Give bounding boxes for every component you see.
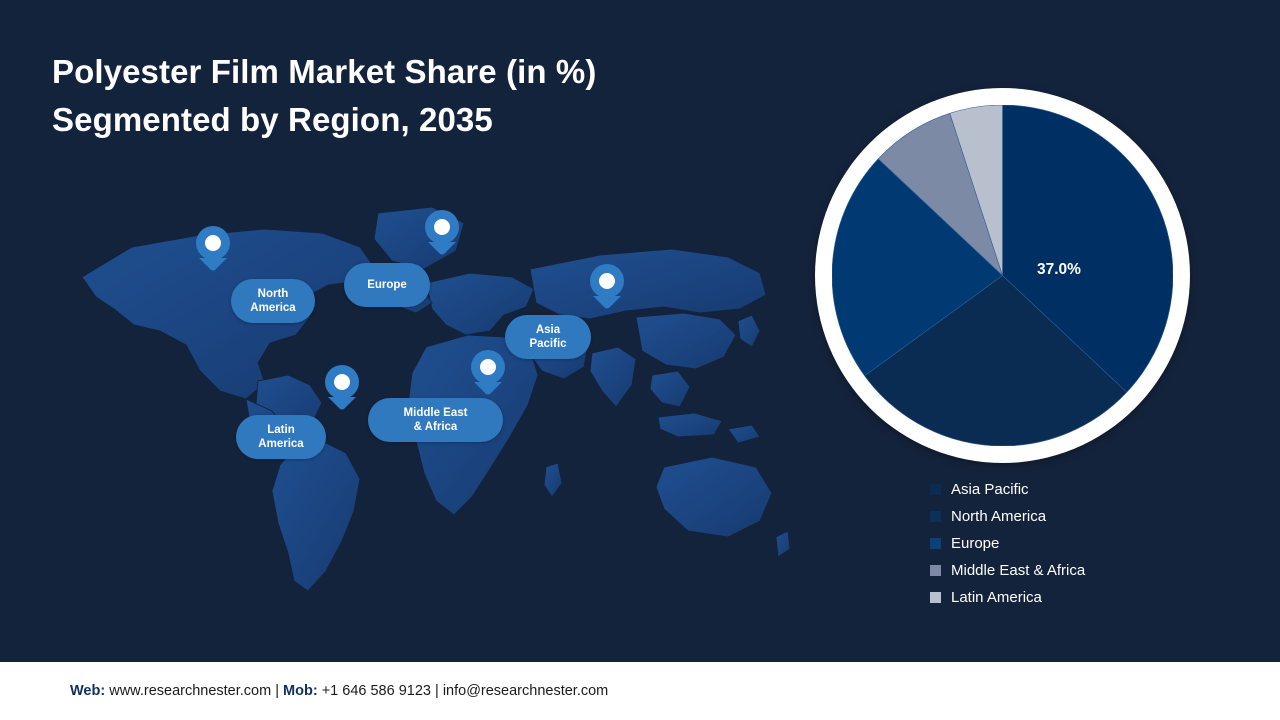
legend-item-latin-america[interactable]: Latin America: [930, 584, 1230, 611]
pie-chart-slices: [832, 105, 1173, 446]
title-line-1: Polyester Film Market Share (in %): [52, 48, 692, 96]
footer-separator: |: [275, 683, 279, 699]
page-title: Polyester Film Market Share (in %) Segme…: [52, 48, 692, 144]
footer-web-label: Web:: [70, 683, 105, 699]
map-label-north-america[interactable]: North America: [231, 279, 315, 323]
map-pin-head-icon: [590, 264, 624, 298]
legend-swatch-icon: [930, 511, 941, 522]
legend-label: Europe: [951, 535, 999, 553]
legend-item-middle-east-africa[interactable]: Middle East & Africa: [930, 557, 1230, 584]
map-pin-europe[interactable]: [425, 210, 459, 256]
map-pin-head-icon: [325, 365, 359, 399]
legend-label: Latin America: [951, 589, 1042, 607]
map-pin-latin-america[interactable]: [325, 365, 359, 411]
pie-slice-label-asia-pacific: 37.0%: [1037, 261, 1081, 279]
map-label-asia-pacific[interactable]: Asia Pacific: [505, 315, 591, 359]
title-line-2: Segmented by Region, 2035: [52, 96, 692, 144]
legend-label: North America: [951, 508, 1046, 526]
legend-swatch-icon: [930, 592, 941, 603]
legend-item-europe[interactable]: Europe: [930, 530, 1230, 557]
footer-mob-value: +1 646 586 9123: [322, 683, 431, 699]
slide-canvas: Polyester Film Market Share (in %) Segme…: [0, 0, 1280, 720]
legend-swatch-icon: [930, 565, 941, 576]
map-pin-middle-east-africa[interactable]: [471, 350, 505, 396]
legend-label: Asia Pacific: [951, 481, 1029, 499]
footer-mob-label: Mob:: [283, 683, 318, 699]
legend-swatch-icon: [930, 538, 941, 549]
map-label-europe[interactable]: Europe: [344, 263, 430, 307]
map-label-latin-america[interactable]: Latin America: [236, 415, 326, 459]
footer-email-value[interactable]: info@researchnester.com: [443, 683, 608, 699]
map-pin-head-icon: [196, 226, 230, 260]
map-pin-north-america[interactable]: [196, 226, 230, 272]
footer-bar: Web: www.researchnester.com | Mob: +1 64…: [0, 662, 1280, 720]
footer-web-value[interactable]: www.researchnester.com: [109, 683, 271, 699]
pie-chart: 37.0%: [815, 88, 1190, 463]
legend-item-asia-pacific[interactable]: Asia Pacific: [930, 476, 1230, 503]
map-pin-head-icon: [425, 210, 459, 244]
map-pin-head-icon: [471, 350, 505, 384]
legend-item-north-america[interactable]: North America: [930, 503, 1230, 530]
legend-label: Middle East & Africa: [951, 562, 1085, 580]
legend-swatch-icon: [930, 484, 941, 495]
map-pin-asia-pacific[interactable]: [590, 264, 624, 310]
chart-legend: Asia Pacific North America Europe Middle…: [930, 476, 1230, 611]
world-map: North America Europe Asia Pacific Latin …: [60, 185, 790, 615]
footer-contact-line: Web: www.researchnester.com | Mob: +1 64…: [70, 681, 608, 701]
footer-separator: |: [435, 683, 439, 699]
map-label-middle-east-africa[interactable]: Middle East & Africa: [368, 398, 503, 442]
